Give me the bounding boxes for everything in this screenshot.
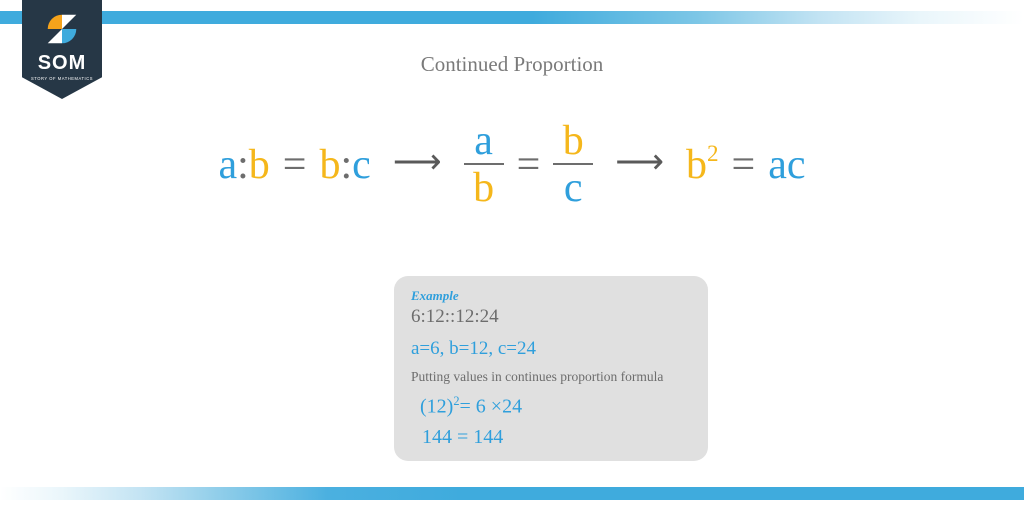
ratio-b2: b — [319, 142, 340, 188]
ratio-c: c — [352, 142, 371, 188]
fraction2-denominator: c — [555, 165, 592, 209]
top-accent-bar — [0, 11, 1024, 24]
example-box: Example 6:12::12:24 a=6, b=12, c=24 Putt… — [394, 276, 708, 461]
som-logo-banner[interactable]: SOM STORY OF MATHEMATICS — [22, 0, 102, 99]
fraction-b-over-c: b c — [553, 120, 593, 209]
result-right: ac — [768, 142, 805, 188]
ratio-expression: a:b=b:c — [218, 144, 370, 186]
ratio-b: b — [249, 142, 270, 188]
example-calc1-suffix: = 6 ×24 — [460, 396, 523, 418]
fraction2-numerator: b — [554, 120, 593, 163]
ratio-equals: = — [283, 142, 307, 188]
example-note: Putting values in continues proportion f… — [411, 368, 708, 386]
bottom-accent-bar — [0, 487, 1024, 500]
example-label: Example — [411, 289, 708, 303]
arrow-right-icon-2: ⟶ — [615, 146, 664, 180]
example-proportion: 6:12::12:24 — [411, 304, 708, 330]
fraction-equals: = — [517, 144, 541, 186]
ratio-colon-1: : — [237, 142, 249, 188]
fraction-a-over-b: a b — [464, 120, 504, 209]
example-calc1-prefix: (12) — [420, 396, 453, 418]
fraction1-denominator: b — [464, 165, 503, 209]
result-exponent: 2 — [707, 140, 719, 166]
fraction1-numerator: a — [465, 120, 502, 163]
arrow-right-icon-1: ⟶ — [393, 146, 442, 180]
result-expression: b2=ac — [686, 144, 806, 186]
example-calculation-line-1: (12)2= 6 ×24 — [420, 394, 708, 420]
page-title: Continued Proportion — [0, 52, 1024, 77]
example-calculation-line-2: 144 = 144 — [422, 425, 708, 450]
example-values: a=6, b=12, c=24 — [411, 337, 708, 362]
ratio-colon-2: : — [340, 142, 352, 188]
ratio-a: a — [218, 142, 237, 188]
result-base: b — [686, 142, 707, 188]
result-equals: = — [732, 142, 756, 188]
main-formula: a:b=b:c ⟶ a b = b c ⟶ b2=ac — [0, 120, 1024, 209]
som-logo-mark-icon — [45, 12, 79, 46]
